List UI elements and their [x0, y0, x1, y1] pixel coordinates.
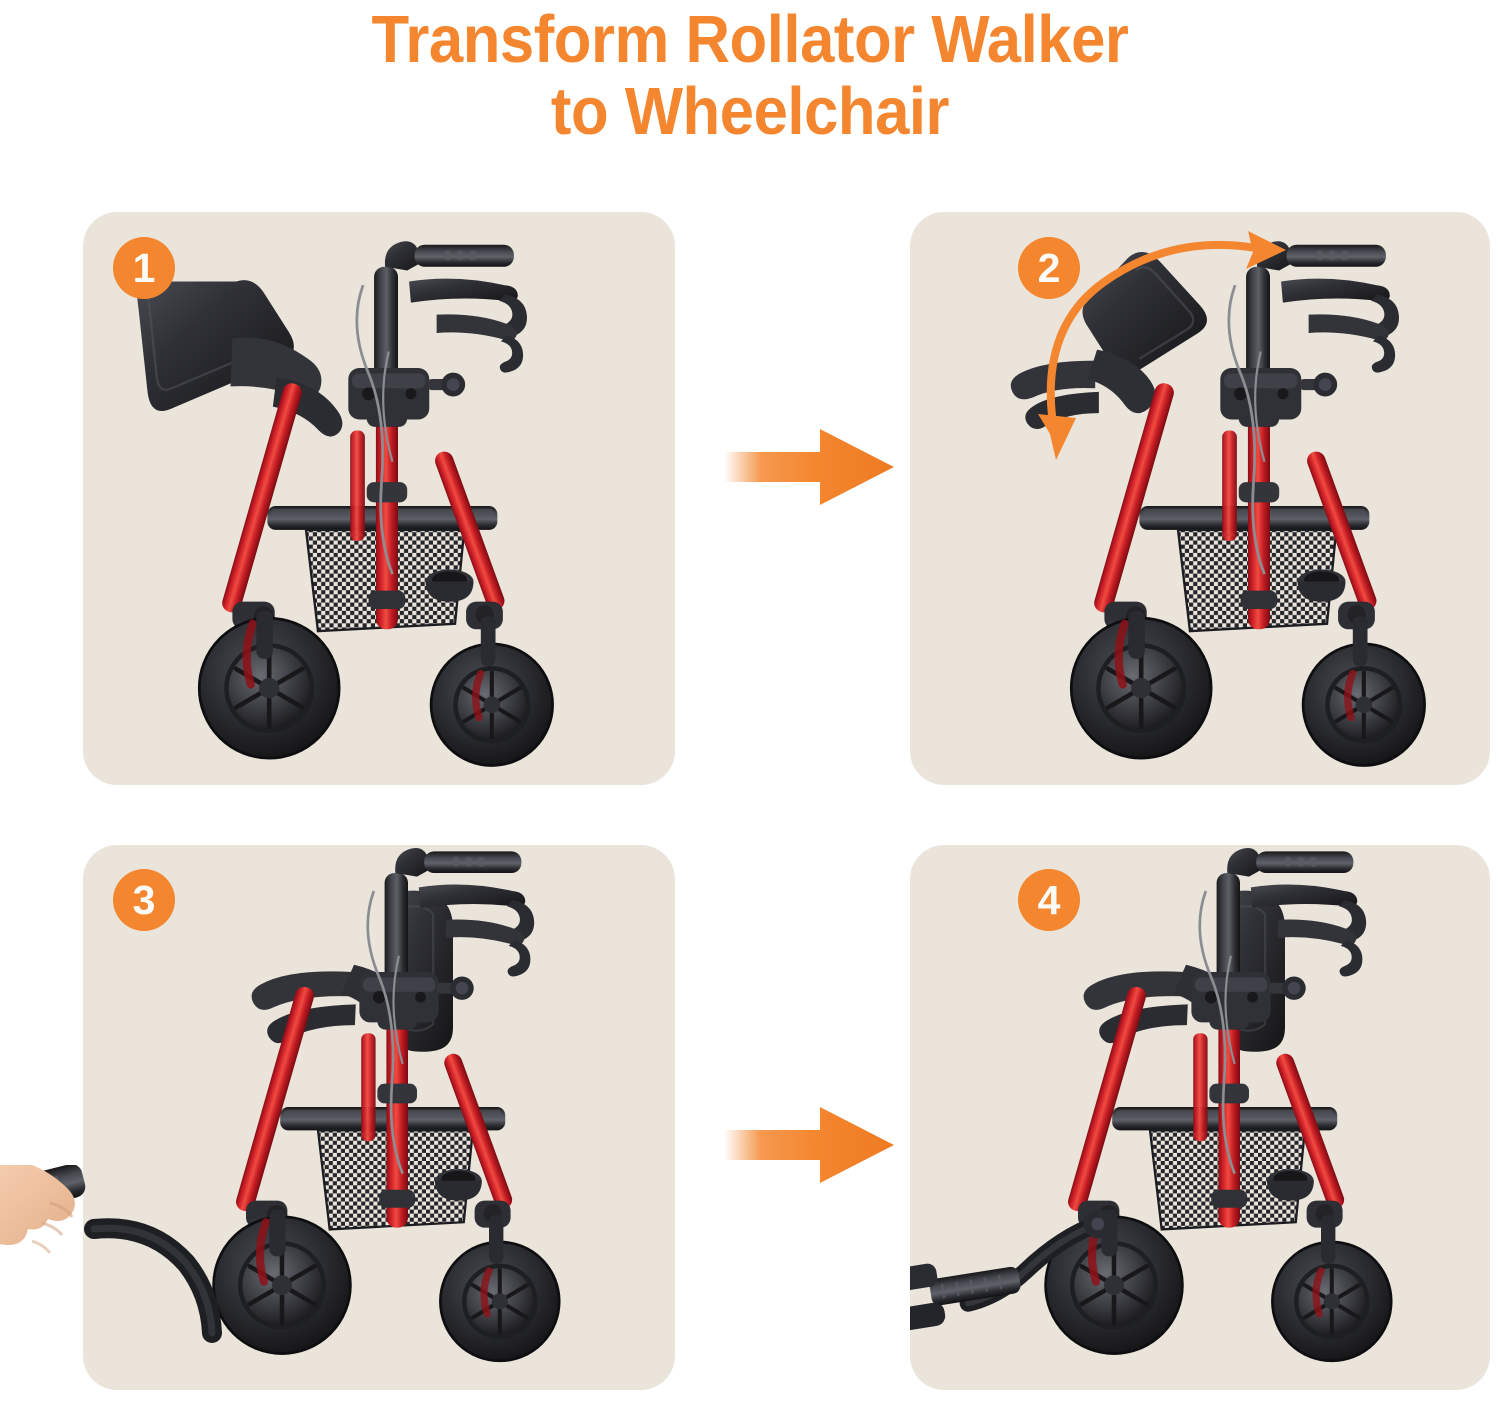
step-badge-4: 4 — [1018, 869, 1080, 931]
backrest-pad-step3 — [252, 891, 453, 1052]
step-badge-2: 2 — [1018, 237, 1080, 299]
arrow-right-icon — [724, 1107, 894, 1183]
page-title: Transform Rollator Walker to Wheelchair — [60, 4, 1440, 148]
step-4-image-clip — [910, 845, 1490, 1390]
transition-arrow-1 — [724, 425, 894, 510]
backrest-pad-step1 — [137, 280, 342, 437]
rollator-illustration-step-1 — [83, 212, 675, 785]
arrow-right-icon — [724, 429, 894, 505]
step-badge-3: 3 — [113, 869, 175, 931]
page-title-line-1: Transform Rollator Walker — [60, 4, 1440, 76]
step-1-image-clip — [83, 212, 675, 785]
hand-holding-footrest — [0, 1165, 280, 1410]
backrest-pad-step4 — [1084, 891, 1285, 1052]
hand-icon — [0, 1165, 75, 1313]
rollator-illustration-step-4 — [910, 845, 1490, 1390]
transition-arrow-2 — [724, 1103, 894, 1188]
step-badge-1: 1 — [113, 237, 175, 299]
page-title-line-2: to Wheelchair — [60, 76, 1440, 148]
